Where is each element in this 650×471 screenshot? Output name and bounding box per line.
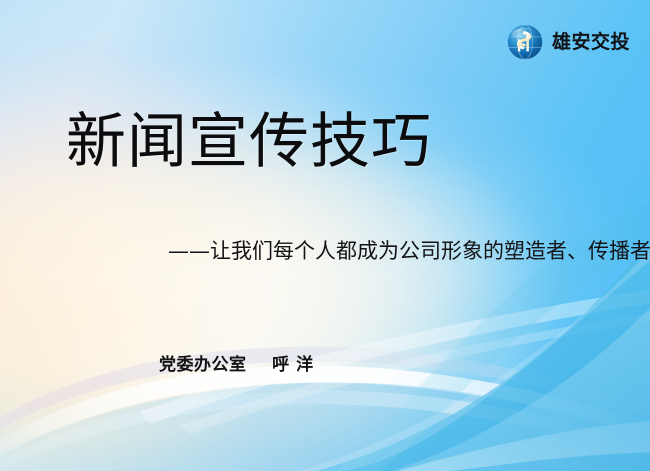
background-warm-glow: [0, 0, 650, 471]
oriental-pearl-tower: [178, 371, 202, 471]
city-skyline-silhouette: [0, 0, 650, 471]
title-slide: 雄安交投 新闻宣传技巧 ——让我们每个人都成为公司形象的塑造者、传播者 党委办公…: [0, 0, 650, 471]
background-pink-haze: [0, 0, 650, 471]
page-title: 新闻宣传技巧: [66, 108, 432, 177]
company-logo-icon: [505, 22, 545, 62]
background-warm-glow-inner: [0, 0, 650, 471]
brand-logo: 雄安交投: [505, 22, 630, 62]
corner-swoosh: [0, 0, 650, 471]
presenter-line: 党委办公室 呼 洋: [159, 354, 314, 376]
sweeping-ribbon-arc: [0, 0, 650, 471]
page-subtitle: ——让我们每个人都成为公司形象的塑造者、传播者: [168, 238, 650, 265]
background-sky-gradient: [0, 0, 650, 471]
background-white-wash: [0, 0, 650, 471]
brand-logo-text: 雄安交投: [552, 33, 630, 52]
